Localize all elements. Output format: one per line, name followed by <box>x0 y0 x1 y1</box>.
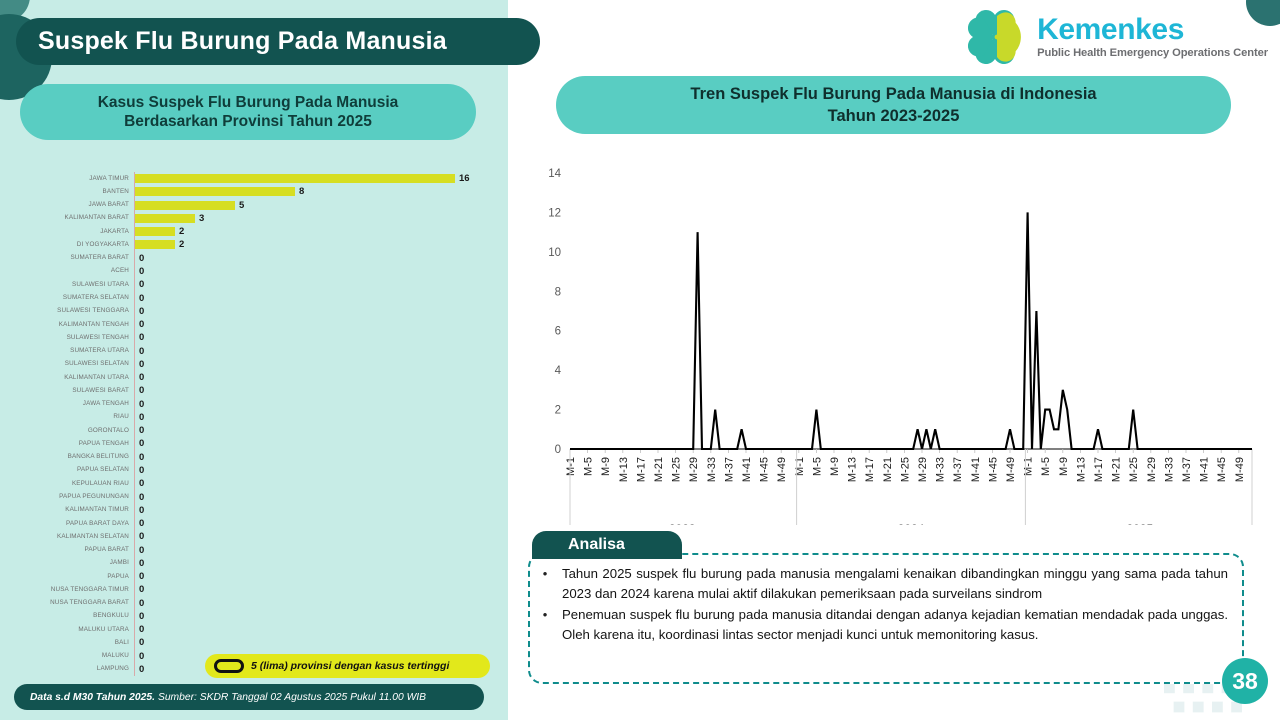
province-bar-row: JAKARTA2 <box>14 225 494 238</box>
province-bar-label: SULAWESI UTARA <box>14 281 134 289</box>
kemenkes-logo: Kemenkes Public Health Emergency Operati… <box>968 6 1268 68</box>
trend-x-tick-label: M-37 <box>723 457 735 482</box>
province-bar-row: KEPULAUAN RIAU0 <box>14 477 494 490</box>
analisa-box: •Tahun 2025 suspek flu burung pada manus… <box>528 553 1244 684</box>
province-bar-label: JAWA TIMUR <box>14 175 134 183</box>
province-bar-row: NUSA TENGGARA BARAT0 <box>14 597 494 610</box>
trend-x-tick-label: M-33 <box>706 457 718 482</box>
province-bar-value: 0 <box>139 572 144 581</box>
province-bar-row: SUMATERA UTARA0 <box>14 344 494 357</box>
analisa-bullet-text: Penemuan suspek flu burung pada manusia … <box>562 605 1228 645</box>
province-bar-row: KALIMANTAN SELATAN0 <box>14 530 494 543</box>
province-bar <box>135 214 195 223</box>
province-bar-track: 0 <box>134 530 494 543</box>
province-bar-value: 0 <box>139 625 144 634</box>
province-bar-row: PAPUA BARAT DAYA0 <box>14 517 494 530</box>
province-chart-title: Kasus Suspek Flu Burung Pada Manusia Ber… <box>20 84 476 140</box>
province-bar-label: KEPULAUAN RIAU <box>14 480 134 488</box>
province-bar-track: 0 <box>134 583 494 596</box>
trend-x-tick-label: M-17 <box>1093 457 1105 482</box>
trend-x-tick-label: M-49 <box>1234 457 1246 482</box>
province-bar-row: SULAWESI BARAT0 <box>14 384 494 397</box>
trend-x-tick-label: M-13 <box>1075 457 1087 482</box>
province-bar-label: KALIMANTAN SELATAN <box>14 533 134 541</box>
province-bar-track: 0 <box>134 358 494 371</box>
province-bar-track: 0 <box>134 464 494 477</box>
province-bar-row: SUMATERA SELATAN0 <box>14 291 494 304</box>
province-bar-track: 0 <box>134 411 494 424</box>
province-bar-row: SULAWESI TENGAH0 <box>14 331 494 344</box>
trend-y-tick: 12 <box>548 207 561 219</box>
province-bar-row: PAPUA SELATAN0 <box>14 464 494 477</box>
province-bar-track: 3 <box>134 212 494 225</box>
province-bar-rows: JAWA TIMUR16BANTEN8JAWA BARAT5KALIMANTAN… <box>14 172 494 676</box>
trend-y-tick: 2 <box>555 405 561 417</box>
province-bar-label: PAPUA SELATAN <box>14 466 134 474</box>
province-bar-label: SUMATERA SELATAN <box>14 294 134 302</box>
province-bar-value: 3 <box>199 214 204 223</box>
trend-x-tick-label: M-37 <box>1181 457 1193 482</box>
province-bar-value: 0 <box>139 559 144 568</box>
trend-x-tick-label: M-1 <box>565 457 577 476</box>
province-bar-row: KALIMANTAN UTARA0 <box>14 371 494 384</box>
province-bar-value: 2 <box>179 227 184 236</box>
province-bar-value: 0 <box>139 347 144 356</box>
trend-x-tick-label: M-45 <box>1216 457 1228 482</box>
province-bar-row: PAPUA0 <box>14 570 494 583</box>
trend-chart-title-line1: Tren Suspek Flu Burung Pada Manusia di I… <box>690 83 1096 105</box>
province-bar-track: 2 <box>134 238 494 251</box>
province-bar-label: LAMPUNG <box>14 665 134 673</box>
province-bar-value: 0 <box>139 307 144 316</box>
province-bar-row: SULAWESI SELATAN0 <box>14 358 494 371</box>
trend-y-tick: 0 <box>555 444 561 456</box>
province-bar-row: NUSA TENGGARA TIMUR0 <box>14 583 494 596</box>
province-bar-value: 0 <box>139 506 144 515</box>
province-bar-row: SULAWESI TENGGARA0 <box>14 305 494 318</box>
trend-x-tick-label: M-1 <box>1023 457 1035 476</box>
province-bar-track: 16 <box>134 172 494 185</box>
province-bar-value: 0 <box>139 294 144 303</box>
trend-y-tick: 10 <box>548 247 561 259</box>
logo-subtitle: Public Health Emergency Operations Cente… <box>1037 46 1268 60</box>
province-bar <box>135 174 455 183</box>
province-bar-row: JAWA TIMUR16 <box>14 172 494 185</box>
province-bar-row: BANGKA BELITUNG0 <box>14 451 494 464</box>
province-bar-label: SUMATERA UTARA <box>14 347 134 355</box>
trend-x-tick-label: M-49 <box>1005 457 1017 482</box>
province-bar-track: 0 <box>134 252 494 265</box>
province-bar-track: 0 <box>134 570 494 583</box>
trend-year-label: 2025 <box>1126 522 1153 525</box>
province-bar-track: 0 <box>134 636 494 649</box>
province-bar-value: 0 <box>139 599 144 608</box>
province-chart-title-line1: Kasus Suspek Flu Burung Pada Manusia <box>98 93 399 112</box>
trend-y-tick: 6 <box>555 326 561 338</box>
province-bar-label: KALIMANTAN TENGAH <box>14 321 134 329</box>
trend-x-tick-label: M-45 <box>987 457 999 482</box>
province-bar-value: 8 <box>299 187 304 196</box>
trend-x-tick-label: M-9 <box>829 457 841 476</box>
province-bar-row: KALIMANTAN TIMUR0 <box>14 504 494 517</box>
province-bar-label: SULAWESI TENGAH <box>14 334 134 342</box>
province-bar-track: 0 <box>134 490 494 503</box>
province-bar-value: 0 <box>139 585 144 594</box>
trend-x-tick-label: M-17 <box>635 457 647 482</box>
province-bar-track: 0 <box>134 371 494 384</box>
province-bar-value: 0 <box>139 466 144 475</box>
province-bar-value: 0 <box>139 426 144 435</box>
province-bar <box>135 240 175 249</box>
trend-chart-title-line2: Tahun 2023-2025 <box>828 105 960 127</box>
trend-x-tick-label: M-21 <box>1111 457 1123 482</box>
province-bar-track: 0 <box>134 557 494 570</box>
province-bar-track: 0 <box>134 384 494 397</box>
province-bar-row: JAMBI0 <box>14 557 494 570</box>
province-bar-track: 0 <box>134 318 494 331</box>
province-bar-value: 0 <box>139 479 144 488</box>
legend-highest-provinces: 5 (lima) provinsi dengan kasus tertinggi <box>205 654 490 678</box>
province-bar-label: DI YOGYAKARTA <box>14 241 134 249</box>
province-bar-label: GORONTALO <box>14 427 134 435</box>
province-bar-row: RIAU0 <box>14 411 494 424</box>
trend-x-tick-label: M-33 <box>1163 457 1175 482</box>
legend-highest-label: 5 (lima) provinsi dengan kasus tertinggi <box>251 660 449 672</box>
province-bar-value: 0 <box>139 333 144 342</box>
trend-x-tick-label: M-29 <box>688 457 700 482</box>
kemenkes-flower-logo-icon <box>968 8 1028 66</box>
province-bar-value: 0 <box>139 652 144 661</box>
trend-x-tick-label: M-9 <box>1058 457 1070 476</box>
trend-x-tick-label: M-21 <box>653 457 665 482</box>
province-bar-track: 0 <box>134 278 494 291</box>
province-bar-label: SULAWESI SELATAN <box>14 360 134 368</box>
analisa-bullet: •Tahun 2025 suspek flu burung pada manus… <box>540 564 1228 604</box>
province-bar-row: JAWA TENGAH0 <box>14 398 494 411</box>
province-bar-value: 0 <box>139 373 144 382</box>
province-bar-row: DI YOGYAKARTA2 <box>14 238 494 251</box>
province-bar-track: 0 <box>134 477 494 490</box>
province-bar-track: 5 <box>134 199 494 212</box>
rounded-pill-outline-icon <box>214 659 244 673</box>
trend-x-tick-label: M-13 <box>847 457 859 482</box>
trend-x-tick-label: M-49 <box>776 457 788 482</box>
province-bar-label: JAWA BARAT <box>14 201 134 209</box>
province-bar-track: 0 <box>134 265 494 278</box>
analisa-tab: Analisa <box>532 531 682 559</box>
province-bar-track: 0 <box>134 504 494 517</box>
bullet-dot-icon: • <box>540 564 550 604</box>
province-bar-row: KALIMANTAN BARAT3 <box>14 212 494 225</box>
province-bar-label: SUMATERA BARAT <box>14 254 134 262</box>
trend-x-tick-label: M-33 <box>935 457 947 482</box>
trend-x-tick-label: M-5 <box>811 457 823 476</box>
province-bar-track: 0 <box>134 437 494 450</box>
province-bar-label: SULAWESI BARAT <box>14 387 134 395</box>
province-bar-value: 0 <box>139 519 144 528</box>
province-bar-row: BENGKULU0 <box>14 610 494 623</box>
province-bar-track: 0 <box>134 291 494 304</box>
province-bar-label: JAWA TENGAH <box>14 400 134 408</box>
province-bar-value: 0 <box>139 254 144 263</box>
trend-x-tick-label: M-29 <box>1146 457 1158 482</box>
province-bar-label: BENGKULU <box>14 612 134 620</box>
trend-y-tick: 8 <box>555 286 561 298</box>
trend-x-tick-label: M-25 <box>899 457 911 482</box>
province-bar-row: BALI0 <box>14 636 494 649</box>
province-bar-label: RIAU <box>14 413 134 421</box>
province-bar-label: NUSA TENGGARA TIMUR <box>14 586 134 594</box>
province-bar-row: BANTEN8 <box>14 185 494 198</box>
province-bar-value: 0 <box>139 386 144 395</box>
analisa-bullet-text: Tahun 2025 suspek flu burung pada manusi… <box>562 564 1228 604</box>
province-bar-label: ACEH <box>14 267 134 275</box>
province-bar-value: 0 <box>139 612 144 621</box>
province-bar-label: KALIMANTAN BARAT <box>14 214 134 222</box>
province-bar-value: 0 <box>139 413 144 422</box>
province-bar-track: 0 <box>134 424 494 437</box>
trend-y-axis: 02468101214 <box>548 168 1252 456</box>
province-bar-track: 0 <box>134 517 494 530</box>
province-bar-track: 0 <box>134 331 494 344</box>
province-bar-label: PAPUA BARAT <box>14 546 134 554</box>
province-bar <box>135 201 235 210</box>
province-bar-track: 0 <box>134 597 494 610</box>
province-bar-row: JAWA BARAT5 <box>14 199 494 212</box>
province-bar-value: 0 <box>139 320 144 329</box>
trend-x-tick-label: M-13 <box>618 457 630 482</box>
province-bar <box>135 227 175 236</box>
province-bar-value: 0 <box>139 546 144 555</box>
trend-x-tick-label: M-37 <box>952 457 964 482</box>
province-bar-label: JAKARTA <box>14 228 134 236</box>
province-bar-track: 0 <box>134 623 494 636</box>
trend-x-tick-label: M-9 <box>600 457 612 476</box>
province-bar-row: SUMATERA BARAT0 <box>14 252 494 265</box>
province-bar-row: PAPUA PEGUNUNGAN0 <box>14 490 494 503</box>
province-bar-label: SULAWESI TENGGARA <box>14 307 134 315</box>
province-bar-label: MALUKU UTARA <box>14 626 134 634</box>
province-bar-label: BALI <box>14 639 134 647</box>
trend-chart-title: Tren Suspek Flu Burung Pada Manusia di I… <box>556 76 1231 134</box>
trend-x-tick-label: M-45 <box>759 457 771 482</box>
trend-x-tick-label: M-41 <box>970 457 982 482</box>
province-bar-track: 2 <box>134 225 494 238</box>
trend-y-tick: 14 <box>548 168 561 180</box>
province-bar-label: KALIMANTAN TIMUR <box>14 506 134 514</box>
trend-year-label: 2024 <box>898 522 925 525</box>
province-bar-row: SULAWESI UTARA0 <box>14 278 494 291</box>
province-bar-track: 8 <box>134 185 494 198</box>
trend-x-tick-label: M-29 <box>917 457 929 482</box>
province-bar-value: 2 <box>179 240 184 249</box>
province-bar-label: JAMBI <box>14 559 134 567</box>
left-panel: Kasus Suspek Flu Burung Pada Manusia Ber… <box>0 0 508 720</box>
trend-x-tick-label: M-5 <box>583 457 595 476</box>
analisa-bullet-list: •Tahun 2025 suspek flu burung pada manus… <box>540 564 1228 645</box>
province-chart-title-line2: Berdasarkan Provinsi Tahun 2025 <box>124 112 372 131</box>
province-bar-track: 0 <box>134 451 494 464</box>
province-bar-row: MALUKU UTARA0 <box>14 623 494 636</box>
trend-x-axis: M-1M-5M-9M-13M-17M-21M-25M-29M-33M-37M-4… <box>565 449 1246 482</box>
trend-x-tick-label: M-25 <box>1128 457 1140 482</box>
footer-data-period: Data s.d M30 Tahun 2025. <box>30 692 155 703</box>
province-bar-track: 0 <box>134 398 494 411</box>
trend-x-tick-label: M-21 <box>882 457 894 482</box>
province-bar-label: PAPUA BARAT DAYA <box>14 520 134 528</box>
province-bar-row: PAPUA TENGAH0 <box>14 437 494 450</box>
province-bar-track: 0 <box>134 543 494 556</box>
province-bar-chart: JAWA TIMUR16BANTEN8JAWA BARAT5KALIMANTAN… <box>14 172 494 676</box>
province-bar-value: 0 <box>139 532 144 541</box>
bullet-dot-icon: • <box>540 605 550 645</box>
province-bar-value: 0 <box>139 267 144 276</box>
province-bar-value: 0 <box>139 400 144 409</box>
province-bar-row: ACEH0 <box>14 265 494 278</box>
page-title: Suspek Flu Burung Pada Manusia <box>16 18 540 65</box>
province-bar-label: BANGKA BELITUNG <box>14 453 134 461</box>
analisa-bullet: •Penemuan suspek flu burung pada manusia… <box>540 605 1228 645</box>
trend-line-chart-svg: 02468101214 M-1M-5M-9M-13M-17M-21M-25M-2… <box>524 155 1264 525</box>
province-bar-value: 5 <box>239 201 244 210</box>
trend-x-tick-label: M-41 <box>741 457 753 482</box>
trend-x-tick-label: M-25 <box>671 457 683 482</box>
province-bar-track: 0 <box>134 344 494 357</box>
province-bar-label: PAPUA <box>14 573 134 581</box>
province-bar-label: PAPUA PEGUNUNGAN <box>14 493 134 501</box>
trend-line-path <box>570 212 1252 449</box>
province-bar-value: 0 <box>139 280 144 289</box>
trend-y-tick: 4 <box>555 365 562 377</box>
province-bar-value: 0 <box>139 360 144 369</box>
province-bar-row: GORONTALO0 <box>14 424 494 437</box>
page-number-badge: 38 <box>1222 658 1268 704</box>
trend-x-tick-label: M-5 <box>1040 457 1052 476</box>
province-bar-label: BANTEN <box>14 188 134 196</box>
footer-source-bar: Data s.d M30 Tahun 2025. Sumber: SKDR Ta… <box>14 684 484 710</box>
province-bar-value: 0 <box>139 493 144 502</box>
province-bar-value: 0 <box>139 665 144 674</box>
logo-title: Kemenkes <box>1037 15 1268 45</box>
province-bar-label: NUSA TENGGARA BARAT <box>14 599 134 607</box>
province-bar <box>135 187 295 196</box>
province-bar-row: KALIMANTAN TENGAH0 <box>14 318 494 331</box>
province-bar-label: MALUKU <box>14 652 134 660</box>
province-bar-value: 16 <box>459 174 470 183</box>
province-bar-value: 0 <box>139 439 144 448</box>
province-bar-value: 0 <box>139 638 144 647</box>
trend-x-tick-label: M-17 <box>864 457 876 482</box>
province-bar-value: 0 <box>139 453 144 462</box>
trend-line-chart: 02468101214 M-1M-5M-9M-13M-17M-21M-25M-2… <box>524 155 1264 525</box>
footer-source: Sumber: SKDR Tanggal 02 Agustus 2025 Puk… <box>158 692 426 703</box>
province-bar-track: 0 <box>134 610 494 623</box>
province-bar-row: PAPUA BARAT0 <box>14 543 494 556</box>
trend-year-label: 2023 <box>669 522 696 525</box>
province-bar-label: KALIMANTAN UTARA <box>14 374 134 382</box>
trend-x-tick-label: M-1 <box>794 457 806 476</box>
trend-x-tick-label: M-41 <box>1199 457 1211 482</box>
province-bar-label: PAPUA TENGAH <box>14 440 134 448</box>
province-bar-track: 0 <box>134 305 494 318</box>
